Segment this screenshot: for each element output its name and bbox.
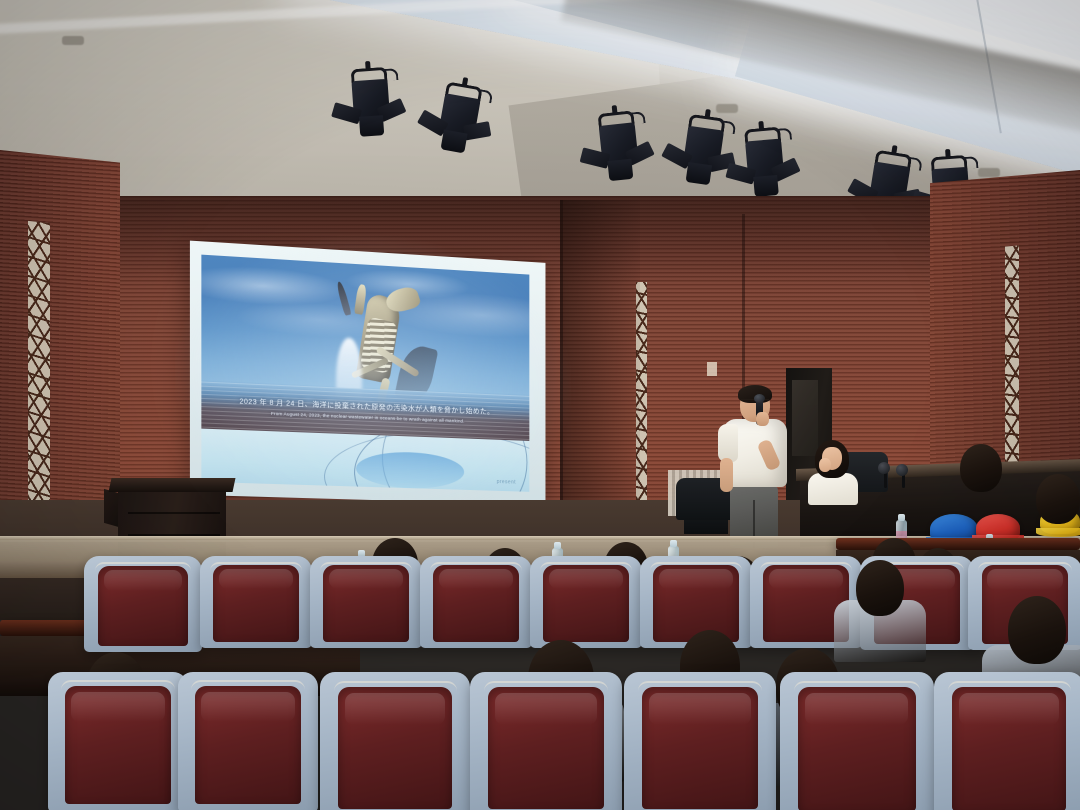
seat-trim xyxy=(948,681,1071,696)
audience-seat[interactable] xyxy=(200,556,312,648)
table-microphone-head[interactable] xyxy=(896,464,908,476)
spotlight-barndoor xyxy=(607,159,633,181)
presenter-speaking xyxy=(718,388,792,548)
audience-member-head xyxy=(856,560,904,616)
audience-seat[interactable] xyxy=(310,556,422,648)
audience-desk xyxy=(836,538,1080,550)
audience-seat[interactable] xyxy=(320,672,470,810)
spotlight-4-icon xyxy=(671,113,734,190)
audience-member-head xyxy=(960,444,1002,492)
seat-trim xyxy=(978,562,1071,571)
presenter-hand xyxy=(756,412,769,426)
seat-back-panel xyxy=(798,687,915,810)
audience-seat[interactable] xyxy=(780,672,934,810)
auditorium-photo: 2023 年 8 月 24 日、海洋に投棄された原発の汚染水が人類を脅かし始めた… xyxy=(0,0,1080,810)
seat-back-panel xyxy=(433,565,518,642)
wall-switch-plate[interactable] xyxy=(707,362,717,376)
seat-trim xyxy=(794,681,920,696)
audience-seat[interactable] xyxy=(178,672,318,810)
spotlight-barndoor xyxy=(686,162,713,185)
ceiling-vent-icon xyxy=(716,104,738,113)
table-microphone-head[interactable] xyxy=(878,462,890,474)
seat-trim xyxy=(430,562,522,571)
seat-trim xyxy=(191,680,306,694)
lectern-groove xyxy=(128,512,220,514)
creature-horn xyxy=(336,281,352,316)
seat-back-panel xyxy=(543,565,628,642)
seat-trim xyxy=(484,681,609,696)
seat-trim xyxy=(760,562,852,571)
seat-trim xyxy=(650,562,742,571)
audience-member-head xyxy=(1008,596,1066,664)
seat-back-panel xyxy=(323,565,408,642)
seat-trim xyxy=(95,562,192,572)
audience-seat[interactable] xyxy=(530,556,642,648)
audience-member-head xyxy=(1036,474,1080,524)
spotlight-3-icon xyxy=(588,109,649,184)
audience-seat[interactable] xyxy=(470,672,622,810)
audience-seat[interactable] xyxy=(934,672,1080,810)
wall-column-shadow xyxy=(560,200,640,550)
spotlight-5-icon xyxy=(735,126,795,200)
seat-back-panel xyxy=(653,565,738,642)
ceiling-vent-icon xyxy=(62,36,84,45)
seat-back-panel xyxy=(213,565,298,642)
audience-seat[interactable] xyxy=(420,556,532,648)
audience-seat[interactable] xyxy=(48,672,188,810)
lectern-top xyxy=(109,478,236,492)
microphone-head-icon xyxy=(754,394,765,403)
seat-trim xyxy=(540,562,632,571)
slide-watermark: present xyxy=(497,479,516,486)
seat-trim xyxy=(638,681,763,696)
spotlight-barndoor xyxy=(359,115,384,137)
seat-back-panel xyxy=(195,686,301,804)
seat-back-panel xyxy=(488,687,604,810)
presenter-arm xyxy=(720,458,733,492)
seat-back-panel xyxy=(642,687,758,810)
spotlight-1-icon xyxy=(342,66,401,140)
seat-trim xyxy=(320,562,412,571)
audience-seat[interactable] xyxy=(84,556,202,652)
seat-trim xyxy=(61,680,176,694)
spotlight-barndoor xyxy=(753,175,779,197)
seat-back-panel xyxy=(338,687,452,810)
seat-trim xyxy=(334,681,457,696)
seat-back-panel xyxy=(98,566,188,647)
seat-back-panel xyxy=(952,687,1066,810)
projection-screen: 2023 年 8 月 24 日、海洋に投棄された原発の汚染水が人類を脅かし始めた… xyxy=(190,241,546,505)
ceiling-vent-icon xyxy=(978,168,1000,177)
seat-back-panel xyxy=(65,686,171,804)
spotlight-barndoor xyxy=(440,130,467,154)
slide-image: 2023 年 8 月 24 日、海洋に投棄された原発の汚染水が人類を脅かし始めた… xyxy=(201,255,529,441)
host-hand xyxy=(819,458,831,472)
seated-host xyxy=(806,440,862,500)
seat-trim xyxy=(210,562,302,571)
presenter-sleeve xyxy=(718,424,738,462)
audience-seat[interactable] xyxy=(624,672,776,810)
